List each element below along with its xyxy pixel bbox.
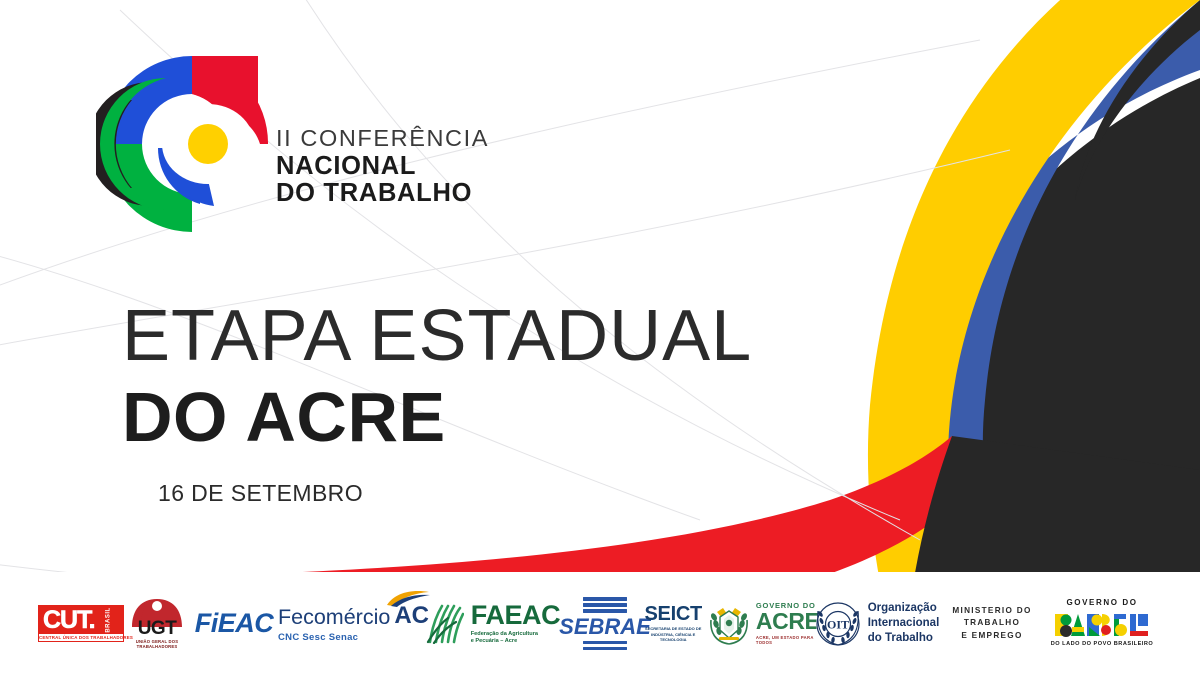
logo-cut: CUT. BRASIL CENTRAL ÚNICA DOS TRABALHADO…	[38, 605, 124, 643]
faeac-subtitle-2: e Pecuária – Acre	[471, 638, 561, 645]
acre-subtitle: ACRE, UM ESTADO PARA TODOS	[756, 635, 820, 645]
faeac-subtitle-1: Federação da Agricultura	[471, 631, 561, 638]
oit-acronym: OIT	[827, 617, 849, 631]
logo-sebrae: SEBRAE	[558, 597, 652, 650]
sebrae-bars-top-icon	[583, 597, 627, 613]
logo-oit: OIT Organização Internacional do Trabalh…	[812, 601, 942, 647]
logo-line-1: II CONFERÊNCIA	[276, 127, 489, 151]
logo-ministerio-trabalho: MINISTERIO DO TRABALHO E EMPREGO	[942, 605, 1042, 642]
faeac-leaf-icon	[426, 604, 464, 644]
oit-laurel-icon: OIT	[815, 601, 861, 647]
sponsor-logo-strip: CUT. BRASIL CENTRAL ÚNICA DOS TRABALHADO…	[0, 572, 1200, 675]
sebrae-wordmark: SEBRAE	[559, 616, 651, 638]
seict-wordmark: SEICT	[645, 604, 702, 624]
seict-subtitle-3: TECNOLOGIA	[645, 637, 701, 642]
ministerio-line-3: E EMPREGO	[961, 630, 1022, 642]
fecomercio-swoosh-icon	[385, 589, 431, 607]
ugt-wordmark: UGT	[138, 619, 177, 638]
logo-ugt: UGT UNIÃO GERAL DOS TRABALHADORES	[124, 598, 190, 650]
logo-fecomercio: Fecomércio AC CNC Sesc Senac	[278, 604, 428, 643]
sebrae-bars-bottom-icon	[583, 641, 627, 651]
logo-line-2: NACIONAL	[276, 153, 489, 179]
seict-subtitle-1: SECRETARIA DE ESTADO DE	[645, 626, 701, 631]
cut-subtitle: CENTRAL ÚNICA DOS TRABALHADORES	[39, 634, 123, 642]
headline-line-2: DO ACRE	[122, 382, 752, 452]
logo-faeac: FAEAC Federação da Agricultura e Pecuári…	[428, 602, 558, 646]
fieac-wordmark: FiEAC	[195, 610, 274, 637]
fecomercio-subtitle: CNC Sesc Senac	[278, 632, 358, 643]
conference-logo: II CONFERÊNCIA NACIONAL DO TRABALHO	[96, 52, 489, 234]
cut-brasil-label: BRASIL	[105, 607, 111, 632]
conference-logomark-icon	[96, 52, 268, 234]
governo-brasil-subtitle: DO LADO DO POVO BRASILEIRO	[1051, 642, 1154, 648]
faeac-wordmark: FAEAC	[471, 602, 561, 629]
logo-line-3: DO TRABALHO	[276, 180, 489, 206]
oit-line-1: Organização	[868, 601, 940, 616]
acre-coat-of-arms-icon	[707, 602, 751, 646]
logo-pupil	[188, 124, 228, 164]
logo-fieac: FiEAC	[190, 610, 278, 637]
headline-block: ETAPA ESTADUAL DO ACRE 16 DE SETEMBRO	[122, 300, 752, 507]
ministerio-line-2: TRABALHO	[964, 617, 1020, 629]
acre-wordmark: ACRE	[756, 610, 820, 633]
fecomercio-wordmark: Fecomércio	[278, 607, 390, 629]
ministerio-line-1: MINISTERIO DO	[952, 605, 1031, 617]
headline-line-1: ETAPA ESTADUAL	[122, 300, 752, 372]
oit-line-2: Internacional	[868, 616, 940, 631]
arc-dark-sliver	[1075, 0, 1200, 200]
poster-canvas: II CONFERÊNCIA NACIONAL DO TRABALHO ETAP…	[0, 0, 1200, 675]
governo-brasil-top-label: GOVERNO DO	[1066, 599, 1137, 607]
cut-wordmark: CUT.	[43, 606, 95, 634]
logo-governo-brasil: GOVERNO DO DO LADO DO POVO BRASILEIR	[1042, 599, 1162, 648]
fecomercio-state-suffix: AC	[394, 604, 429, 628]
ugt-subtitle-2: TRABALHADORES	[136, 644, 178, 649]
oit-line-3: do Trabalho	[868, 631, 940, 646]
governo-brasil-wordmark-icon	[1054, 610, 1150, 640]
seict-block: SEICT SECRETARIA DE ESTADO DE INDÚSTRIA,…	[645, 604, 702, 642]
logo-governo-acre: SEICT SECRETARIA DE ESTADO DE INDÚSTRIA,…	[652, 602, 812, 646]
event-date: 16 DE SETEMBRO	[158, 480, 752, 507]
